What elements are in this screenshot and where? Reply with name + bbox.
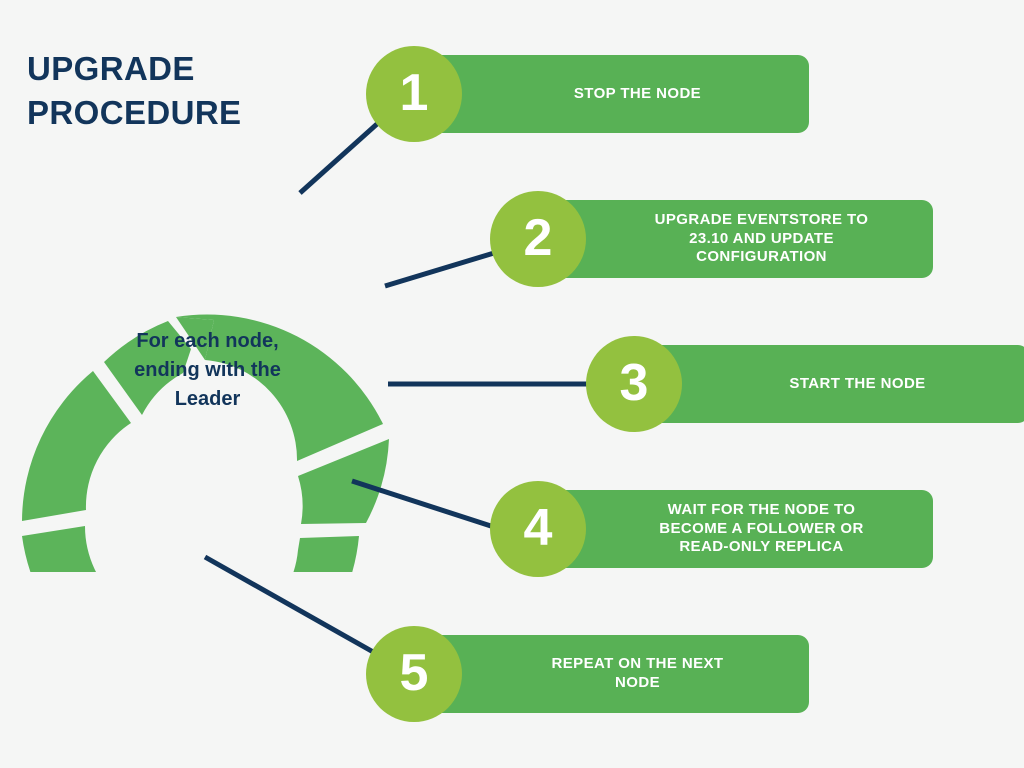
step-label-4: Wait for the node to become a follower o… — [659, 501, 863, 557]
step-number-1: 1 — [400, 67, 429, 119]
infographic-canvas: UPGRADE PROCEDURE — [0, 0, 1024, 768]
step-badge-4: 4 — [490, 481, 586, 577]
step-label-3: Start the node — [789, 375, 925, 394]
step-badge-1: 1 — [366, 46, 462, 142]
cycle-center-label: For each node, ending with the Leader — [100, 327, 315, 413]
step-label-5: Repeat on the next node — [552, 655, 724, 692]
step-label-2: Upgrade EventStore to 23.10 and update c… — [655, 211, 869, 267]
page-title: UPGRADE PROCEDURE — [27, 47, 357, 135]
cycle-segment-5 — [22, 526, 122, 572]
cycle-diagram: For each node, ending with the Leader — [8, 152, 408, 572]
step-number-5: 5 — [400, 647, 429, 699]
step-label-1: Stop the node — [574, 85, 701, 104]
step-number-2: 2 — [524, 212, 553, 264]
step-number-3: 3 — [620, 357, 649, 409]
step-badge-5: 5 — [366, 626, 462, 722]
step-badge-3: 3 — [586, 336, 682, 432]
step-number-4: 4 — [524, 502, 553, 554]
cycle-segment-3 — [246, 536, 359, 572]
step-badge-2: 2 — [490, 191, 586, 287]
